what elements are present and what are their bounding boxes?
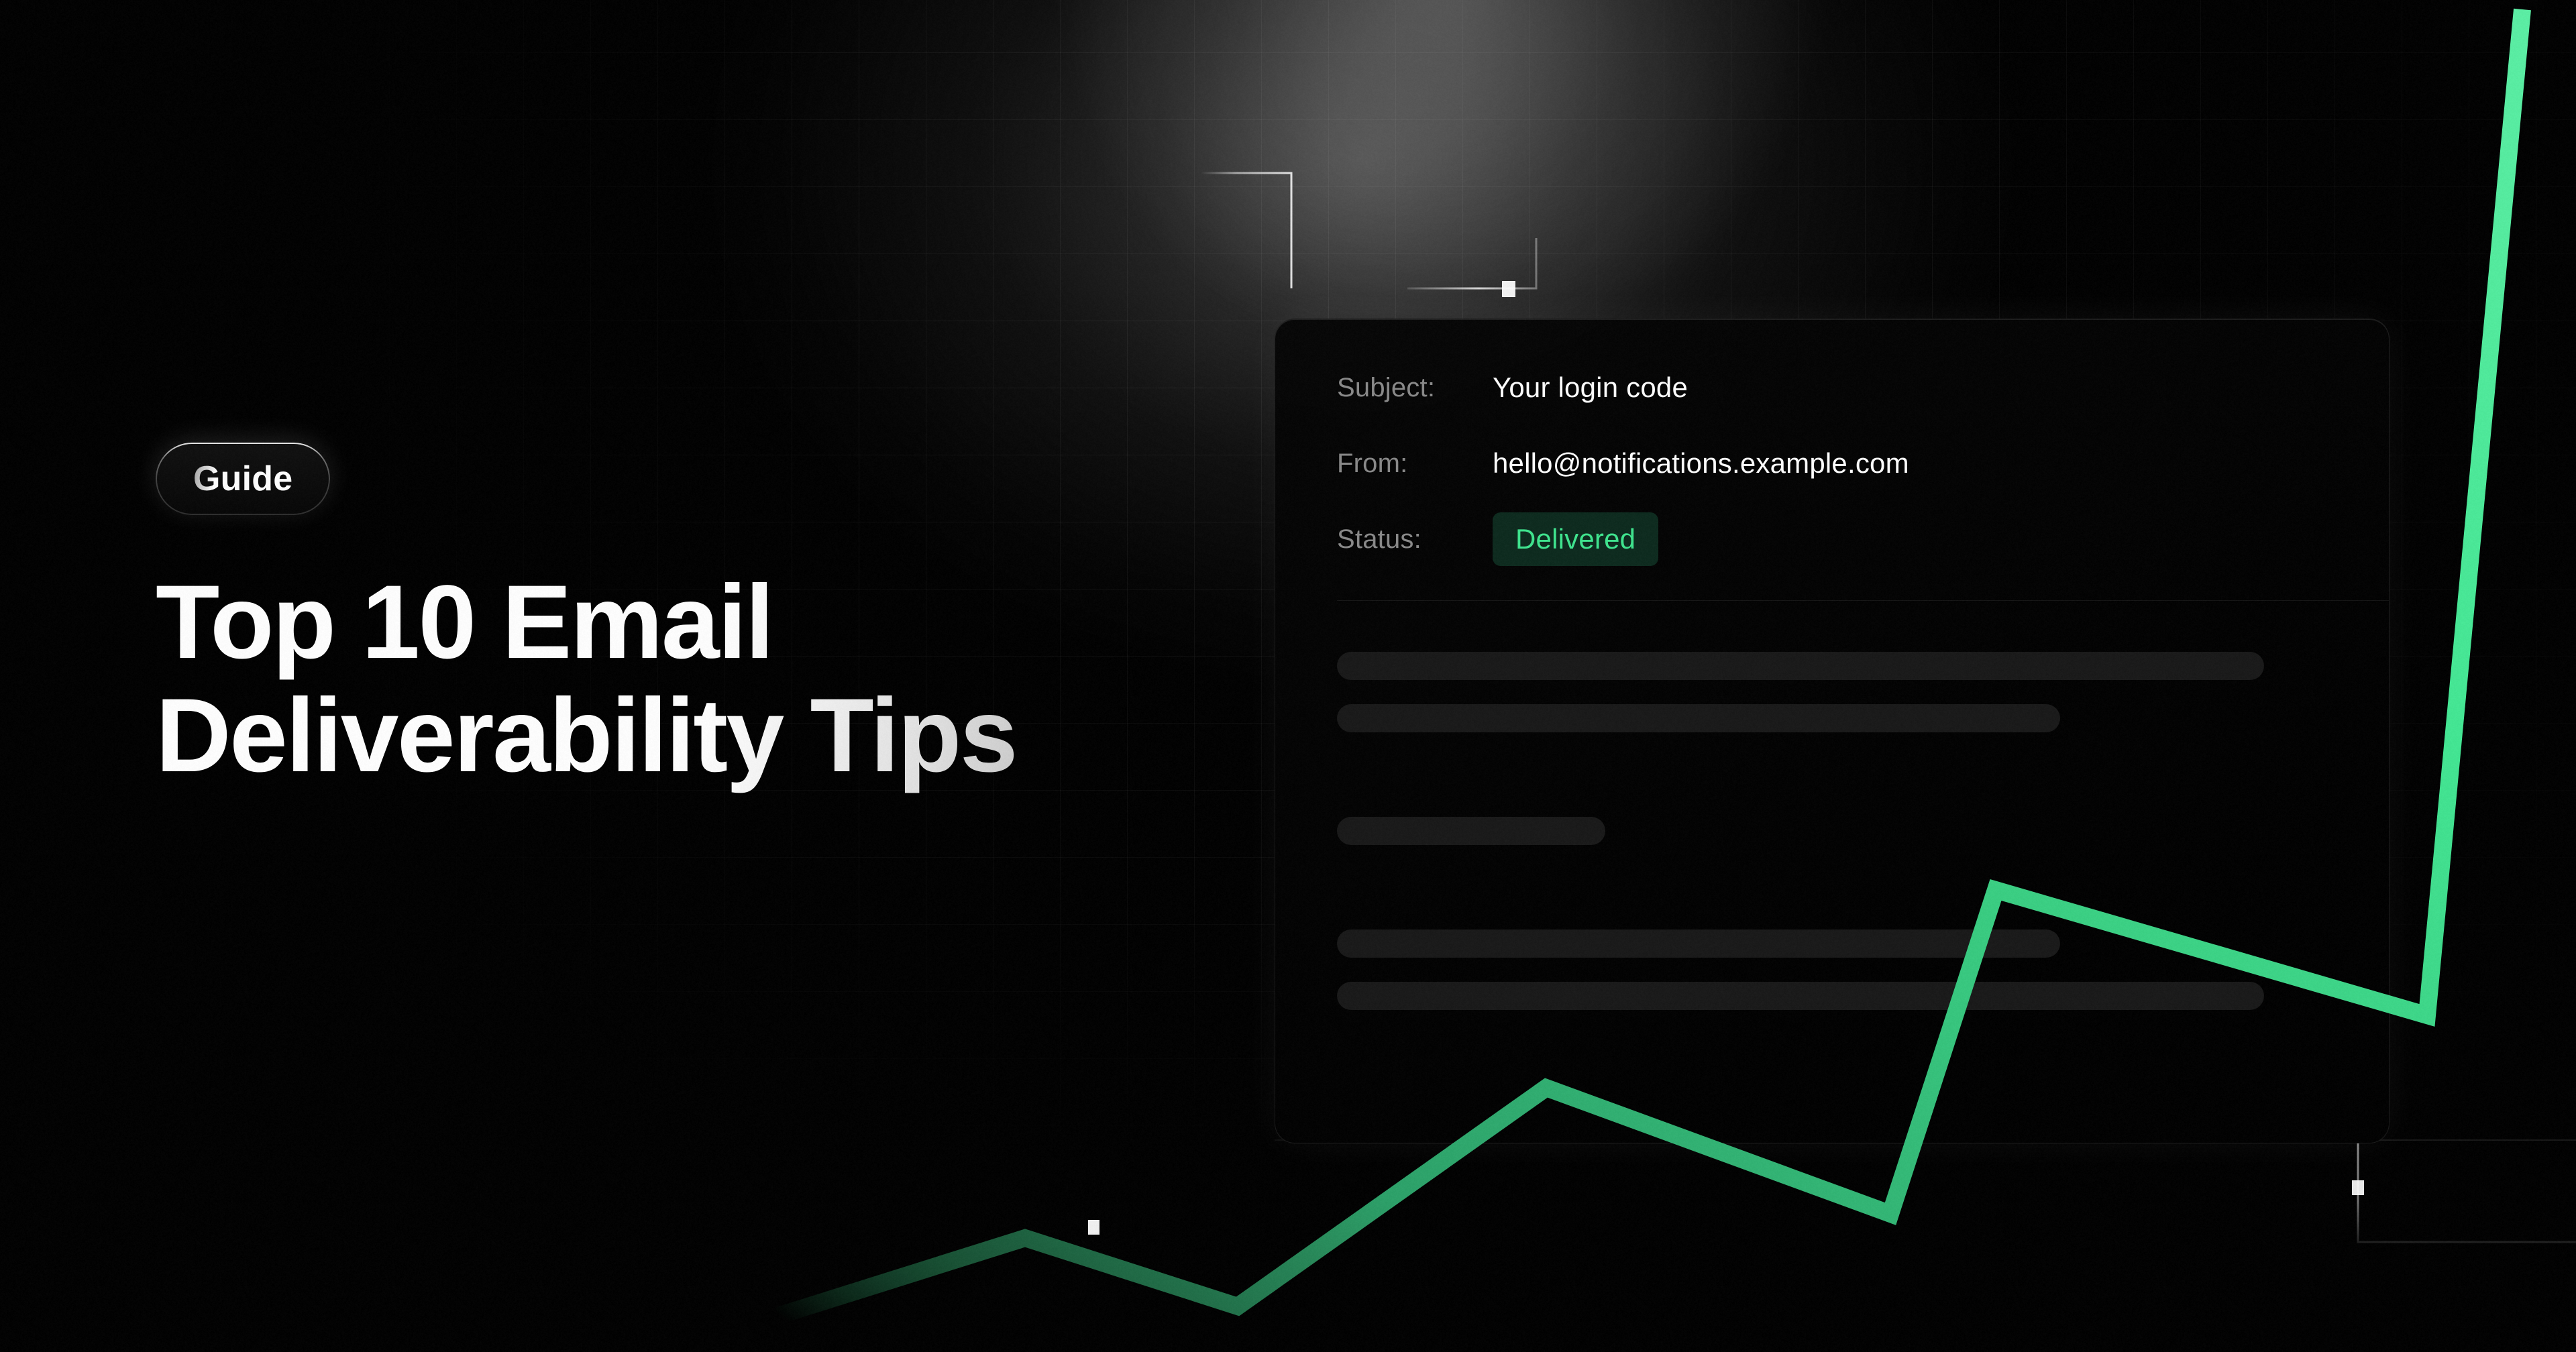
hero-banner: Guide Top 10 Email Deliverability Tips S… [0,0,2576,1352]
skeleton-line [1337,652,2264,680]
email-field-from-value: hello@notifications.example.com [1493,447,1909,480]
email-field-subject: Subject: Your login code [1337,368,2389,407]
skeleton-line [1337,982,2264,1010]
email-field-subject-value: Your login code [1493,372,1688,404]
email-preview-card: Subject: Your login code From: hello@not… [1275,319,2390,1143]
email-field-subject-label: Subject: [1337,373,1493,403]
status-badge: Delivered [1493,512,1658,566]
email-field-from-label: From: [1337,449,1493,479]
skeleton-line [1337,929,2060,958]
email-card-body [1275,601,2389,1010]
skeleton-line [1337,704,2060,732]
skeleton-line [1337,817,1605,845]
email-field-status: Status: Delivered [1337,520,2389,559]
guide-badge-label: Guide [193,459,292,499]
page-title: Top 10 Email Deliverability Tips [156,566,1229,793]
guide-badge[interactable]: Guide [156,443,330,515]
email-field-status-label: Status: [1337,524,1493,555]
hero-copy: Guide Top 10 Email Deliverability Tips [156,443,1229,863]
email-field-from: From: hello@notifications.example.com [1337,444,2389,483]
email-card-header: Subject: Your login code From: hello@not… [1275,319,2389,601]
